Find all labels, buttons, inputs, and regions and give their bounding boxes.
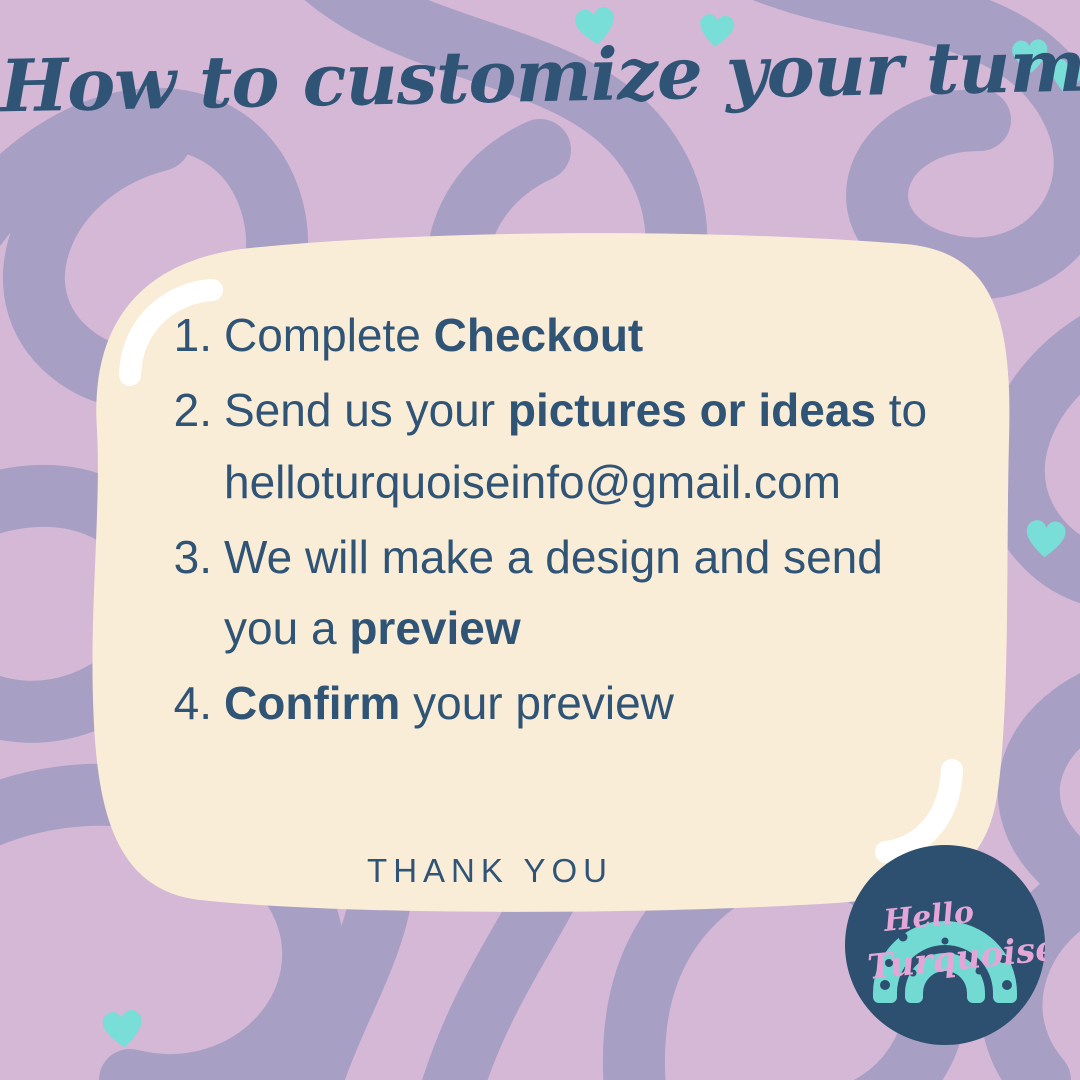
step-emphasis: preview	[349, 602, 520, 654]
step-item: 1.Complete Checkout	[150, 300, 950, 371]
step-number: 3.	[150, 522, 224, 593]
step-emphasis: Confirm	[224, 677, 400, 729]
step-number: 4.	[150, 668, 224, 739]
step-plain: your preview	[400, 677, 674, 729]
step-item: 2.Send us your pictures or ideas tohello…	[150, 375, 950, 518]
step-line: Send us your pictures or ideas to	[224, 375, 950, 446]
step-text: Complete Checkout	[224, 300, 950, 371]
step-item: 3.We will make a design and sendyou a pr…	[150, 522, 950, 665]
step-line: Confirm your preview	[224, 668, 950, 739]
step-line: you a preview	[224, 593, 950, 664]
hello-turquoise-logo-icon[interactable]: Hello Turquoise	[845, 845, 1045, 1045]
brand-logo[interactable]: Hello Turquoise	[845, 845, 1045, 1045]
step-plain: to	[876, 384, 927, 436]
step-text: Send us your pictures or ideas tohellotu…	[224, 375, 950, 518]
step-plain: you a	[224, 602, 349, 654]
step-line: We will make a design and send	[224, 522, 950, 593]
card-content: 1.Complete Checkout2.Send us your pictur…	[150, 300, 950, 920]
step-plain: Complete	[224, 309, 434, 361]
poster-canvas: How to customize your tumbler 1.Complete…	[0, 0, 1080, 1080]
step-plain: Send us your	[224, 384, 508, 436]
step-plain: We will make a design and send	[224, 531, 883, 583]
step-number: 2.	[150, 375, 224, 446]
step-text: We will make a design and sendyou a prev…	[224, 522, 950, 665]
step-text: Confirm your preview	[224, 668, 950, 739]
step-plain: helloturquoiseinfo@gmail.com	[224, 456, 841, 508]
step-item: 4.Confirm your preview	[150, 668, 950, 739]
step-emphasis: pictures or ideas	[508, 384, 876, 436]
page-title: How to customize your tumbler	[0, 28, 1080, 124]
step-emphasis: Checkout	[434, 309, 644, 361]
step-line: helloturquoiseinfo@gmail.com	[224, 447, 950, 518]
thank-you-text: THANK YOU	[150, 852, 830, 890]
step-line: Complete Checkout	[224, 300, 950, 371]
step-number: 1.	[150, 300, 224, 371]
steps-list: 1.Complete Checkout2.Send us your pictur…	[150, 300, 950, 740]
